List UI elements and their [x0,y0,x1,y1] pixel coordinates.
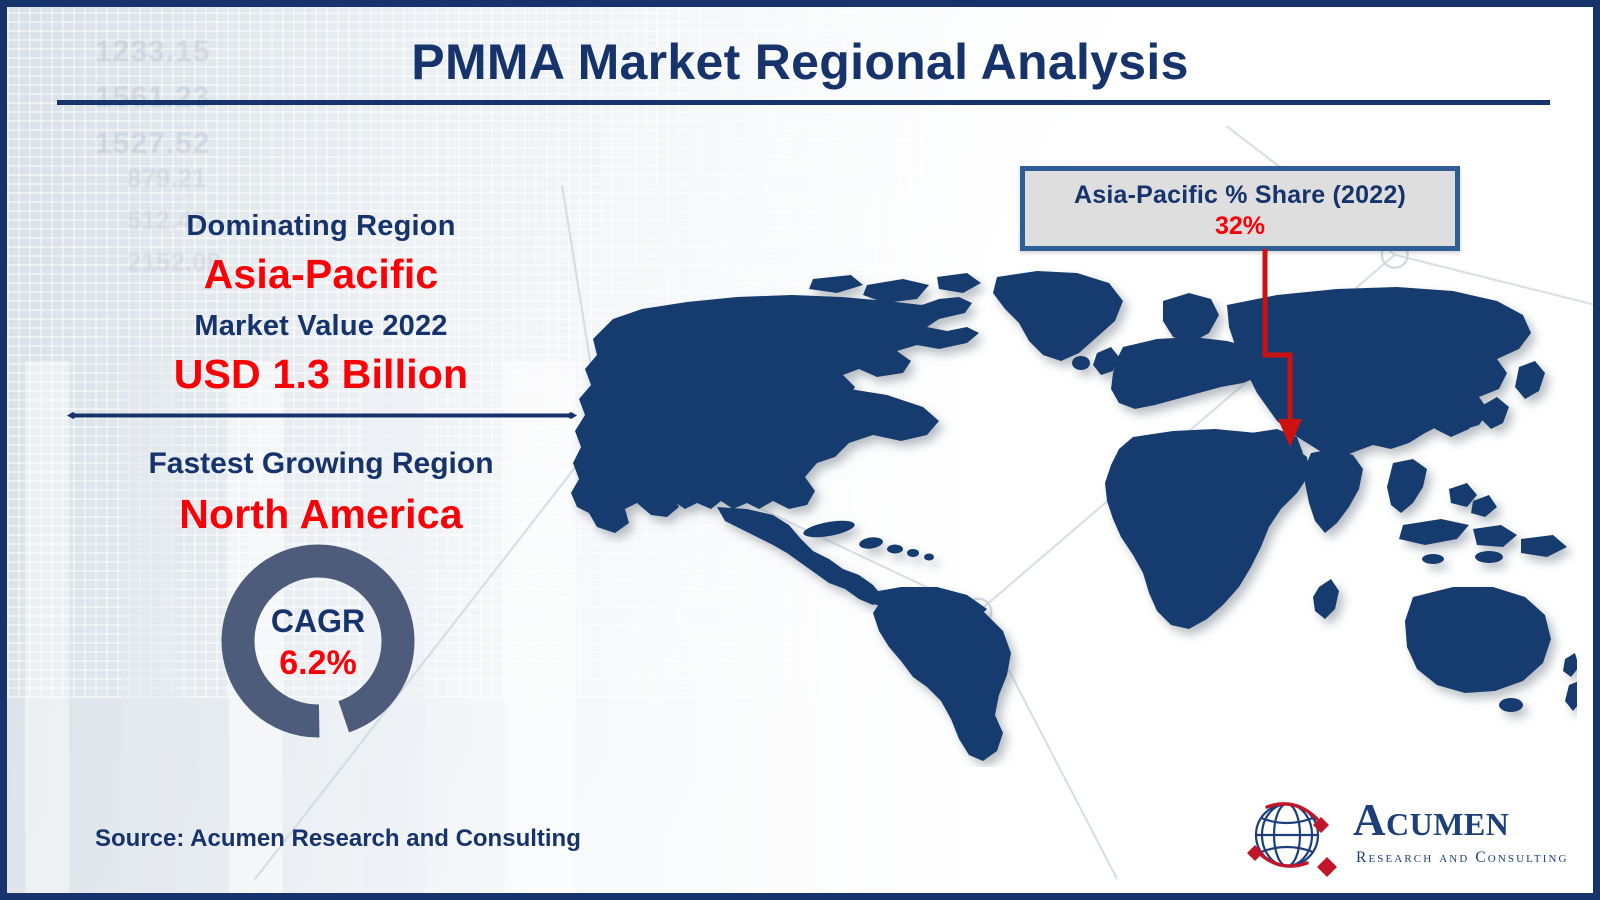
cagr-label: CAGR [220,603,416,640]
acumen-logo: Acumen Research and Consulting [1225,795,1575,877]
asia-pacific-share-callout: Asia-Pacific % Share (2022) 32% [1020,166,1460,251]
logo-wordmark: Acumen [1353,798,1509,843]
source-credit: Source: Acumen Research and Consulting [95,825,581,853]
callout-value: 32% [1025,212,1455,241]
logo-tagline: Research and Consulting [1356,849,1569,867]
section-divider [65,412,579,419]
fastest-growing-region-label: Fastest Growing Region [61,447,581,481]
title-underline [57,100,1550,105]
infographic-canvas: 1233.15 1561.23 1527.52 879.21 512.47 21… [0,0,1600,900]
cagr-donut-ring [220,543,416,739]
callout-arrow [1237,247,1327,457]
cagr-value: 6.2% [220,644,416,683]
dominating-region-label: Dominating Region [61,210,581,243]
market-value-amount: USD 1.3 Billion [61,351,581,398]
page-title: PMMA Market Regional Analysis [7,33,1593,91]
map-landmasses [571,271,1577,761]
cagr-donut-chart: CAGR 6.2% [220,543,416,739]
fastest-growing-region-value: North America [61,491,581,538]
dominating-region-value: Asia-Pacific [61,251,581,298]
callout-title: Asia-Pacific % Share (2022) [1025,181,1455,210]
market-value-label: Market Value 2022 [61,310,581,343]
world-map [567,257,1577,767]
